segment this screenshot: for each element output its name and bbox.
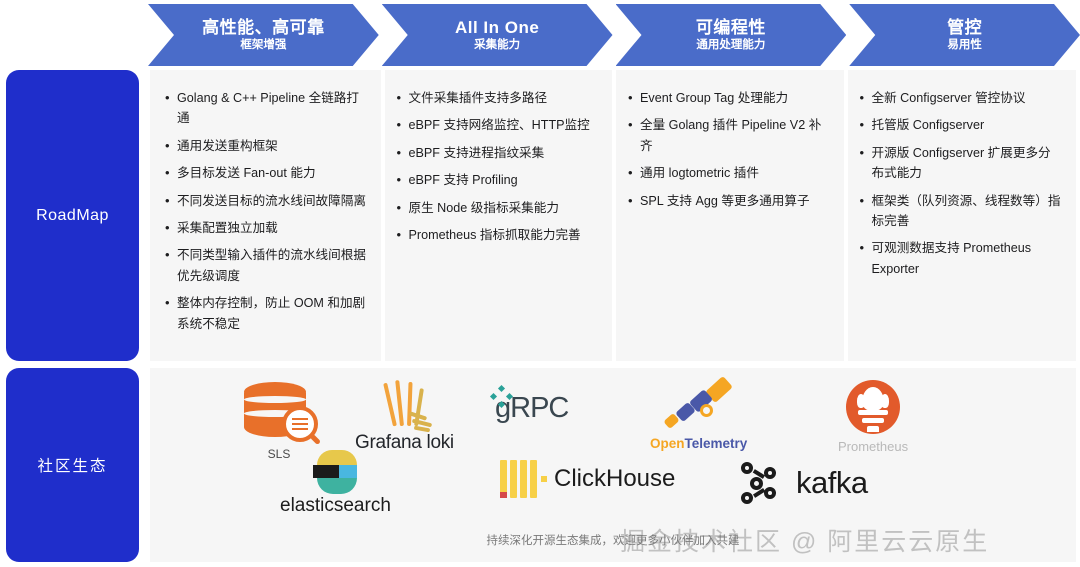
list-item: 文件采集插件支持多路径 (396, 88, 600, 108)
list-item: SPL 支持 Agg 等更多通用算子 (627, 191, 831, 211)
rail-roadmap: RoadMap (6, 70, 139, 361)
logo-clickhouse-caption: ClickHouse (554, 465, 675, 493)
list-item: 可观测数据支持 Prometheus Exporter (859, 238, 1063, 279)
otel-caption-telemetry: Telemetry (685, 436, 748, 451)
roadmap-column-3: Event Group Tag 处理能力 全量 Golang 插件 Pipeli… (613, 70, 845, 361)
list-item: 开源版 Configserver 扩展更多分布式能力 (859, 143, 1063, 184)
phase-arrow-4[interactable]: 管控 易用性 (849, 4, 1080, 66)
logo-prometheus[interactable]: Prometheus (838, 380, 908, 454)
logo-clickhouse[interactable]: ClickHouse (500, 460, 675, 498)
phase-arrow-2-title: All In One (455, 18, 539, 38)
list-item: 框架类（队列资源、线程数等）指标完善 (859, 191, 1063, 232)
roadmap-list-1: Golang & C++ Pipeline 全链路打通 通用发送重构框架 多目标… (164, 88, 368, 334)
rail-ecosystem: 社区生态 (6, 368, 139, 562)
prometheus-icon (846, 380, 900, 434)
roadmap-list-4: 全新 Configserver 管控协议 托管版 Configserver 开源… (859, 88, 1063, 279)
phase-arrow-strip: 高性能、高可靠 框架增强 All In One 采集能力 可编程性 通用处理能力… (148, 4, 1080, 66)
phase-arrow-2-subtitle: 采集能力 (474, 39, 520, 52)
list-item: eBPF 支持 Profiling (396, 170, 600, 190)
logo-elasticsearch[interactable]: elasticsearch (280, 450, 391, 517)
list-item: 通用 logtometric 插件 (627, 163, 831, 183)
phase-arrow-2[interactable]: All In One 采集能力 (382, 4, 613, 66)
phase-arrow-3-title: 可编程性 (696, 18, 766, 38)
list-item: 整体内存控制，防止 OOM 和加剧系统不稳定 (164, 293, 368, 334)
roadmap-list-3: Event Group Tag 处理能力 全量 Golang 插件 Pipeli… (627, 88, 831, 211)
list-item: eBPF 支持网络监控、HTTP监控 (396, 115, 600, 135)
kafka-icon (740, 460, 786, 506)
grpc-node-icon (491, 386, 513, 408)
logo-opentelemetry-caption: OpenTelemetry (650, 436, 747, 451)
phase-arrow-4-subtitle: 易用性 (947, 39, 982, 52)
list-item: 原生 Node 级指标采集能力 (396, 198, 600, 218)
phase-arrow-3-subtitle: 通用处理能力 (696, 39, 765, 52)
list-item: Golang & C++ Pipeline 全链路打通 (164, 88, 368, 129)
opentelemetry-telescope-icon (663, 378, 735, 434)
phase-arrow-3[interactable]: 可编程性 通用处理能力 (616, 4, 847, 66)
phase-arrow-1-subtitle: 框架增强 (240, 39, 286, 52)
list-item: Prometheus 指标抓取能力完善 (396, 225, 600, 245)
ecosystem-panel: SLS Grafana loki (150, 368, 1076, 562)
logo-opentelemetry[interactable]: OpenTelemetry (650, 378, 747, 451)
list-item: Event Group Tag 处理能力 (627, 88, 831, 108)
logo-kafka-caption: kafka (796, 465, 868, 501)
phase-arrow-1[interactable]: 高性能、高可靠 框架增强 (148, 4, 379, 66)
roadmap-panel: Golang & C++ Pipeline 全链路打通 通用发送重构框架 多目标… (150, 70, 1076, 361)
logo-elasticsearch-caption: elasticsearch (280, 495, 391, 517)
ecosystem-note: 持续深化开源生态集成，欢迎更多小伙伴加入共建 (150, 532, 1076, 548)
list-item: 托管版 Configserver (859, 115, 1063, 135)
phase-arrow-4-title: 管控 (947, 18, 982, 38)
list-item: 多目标发送 Fan-out 能力 (164, 163, 368, 183)
list-item: 全新 Configserver 管控协议 (859, 88, 1063, 108)
otel-caption-open: Open (650, 436, 685, 451)
clickhouse-icon (500, 460, 546, 498)
elasticsearch-icon (313, 450, 357, 494)
magnifier-icon (282, 406, 318, 442)
phase-arrow-1-title: 高性能、高可靠 (202, 18, 325, 38)
list-item: 不同类型输入插件的流水线间根据优先级调度 (164, 245, 368, 286)
roadmap-column-4: 全新 Configserver 管控协议 托管版 Configserver 开源… (845, 70, 1077, 361)
list-item: eBPF 支持进程指纹采集 (396, 143, 600, 163)
sls-icon (240, 382, 318, 444)
list-item: 全量 Golang 插件 Pipeline V2 补齐 (627, 115, 831, 156)
logo-grafana-loki[interactable]: Grafana loki (355, 384, 454, 454)
slide-root: 高性能、高可靠 框架增强 All In One 采集能力 可编程性 通用处理能力… (0, 0, 1080, 567)
grafana-loki-icon (367, 384, 441, 434)
roadmap-column-1: Golang & C++ Pipeline 全链路打通 通用发送重构框架 多目标… (150, 70, 382, 361)
list-item: 不同发送目标的流水线间故障隔离 (164, 191, 368, 211)
rail-ecosystem-label: 社区生态 (37, 454, 107, 476)
logo-grpc[interactable]: gRPC (495, 392, 568, 425)
list-item: 通用发送重构框架 (164, 136, 368, 156)
list-item: 采集配置独立加载 (164, 218, 368, 238)
rail-roadmap-label: RoadMap (36, 207, 109, 225)
roadmap-column-2: 文件采集插件支持多路径 eBPF 支持网络监控、HTTP监控 eBPF 支持进程… (382, 70, 614, 361)
logo-kafka[interactable]: kafka (740, 460, 868, 506)
roadmap-list-2: 文件采集插件支持多路径 eBPF 支持网络监控、HTTP监控 eBPF 支持进程… (396, 88, 600, 245)
logo-prometheus-caption: Prometheus (838, 439, 908, 454)
